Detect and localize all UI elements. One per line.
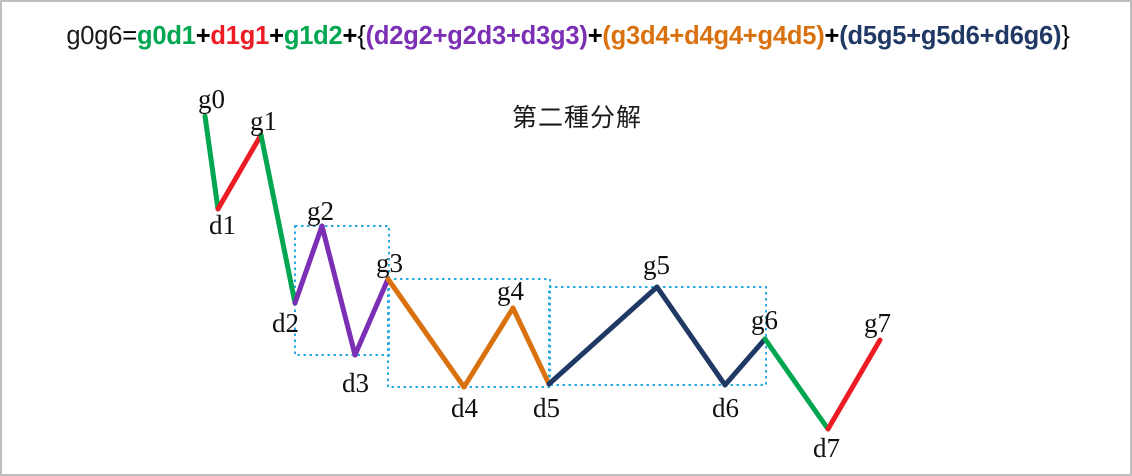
figure-page: g0g6=g0d1+d1g1+g1d2+{(d2g2+g2d3+d3g3)+(g… [0, 0, 1132, 476]
segment-d5g5 [549, 287, 657, 384]
segment-g4d5 [513, 308, 549, 384]
segment-layer [205, 116, 880, 429]
point-label-g1: g1 [250, 106, 277, 136]
point-label-g3: g3 [376, 248, 403, 278]
segment-g0d1 [205, 116, 218, 209]
point-label-g6: g6 [751, 305, 778, 335]
segment-g1d2 [261, 135, 295, 303]
point-label-d7: d7 [813, 433, 840, 463]
point-label-g2: g2 [307, 196, 334, 226]
point-label-g0: g0 [198, 84, 225, 114]
point-label-layer: g0d1g1d2g2d3g3d4g4d5g5d6g6d7g7 [198, 84, 891, 463]
point-label-d2: d2 [272, 308, 299, 338]
segment-d4g4 [464, 308, 513, 387]
point-label-d1: d1 [209, 210, 236, 240]
zigzag-chart: g0d1g1d2g2d3g3d4g4d5g5d6g6d7g7 [2, 2, 1132, 476]
dotted-box-layer [295, 226, 766, 387]
point-label-d3: d3 [342, 368, 369, 398]
point-label-d5: d5 [533, 393, 560, 423]
segment-g3d4 [388, 279, 464, 387]
segment-d7g7 [828, 340, 880, 429]
box-navy-d5g5d6g6 [549, 287, 766, 385]
segment-d2g2 [295, 226, 322, 303]
segment-g5d6 [657, 287, 725, 385]
segment-d3g3 [355, 279, 388, 355]
segment-d6g6 [725, 339, 765, 385]
point-label-g5: g5 [643, 250, 670, 280]
segment-g6d7 [765, 339, 828, 429]
point-label-d4: d4 [451, 393, 479, 423]
point-label-d6: d6 [712, 393, 739, 423]
box-purple-d2g2d3g3 [295, 226, 389, 355]
point-label-g4: g4 [497, 276, 525, 306]
segment-d1g1 [218, 135, 261, 209]
segment-g2d3 [322, 226, 355, 355]
point-label-g7: g7 [864, 308, 891, 338]
